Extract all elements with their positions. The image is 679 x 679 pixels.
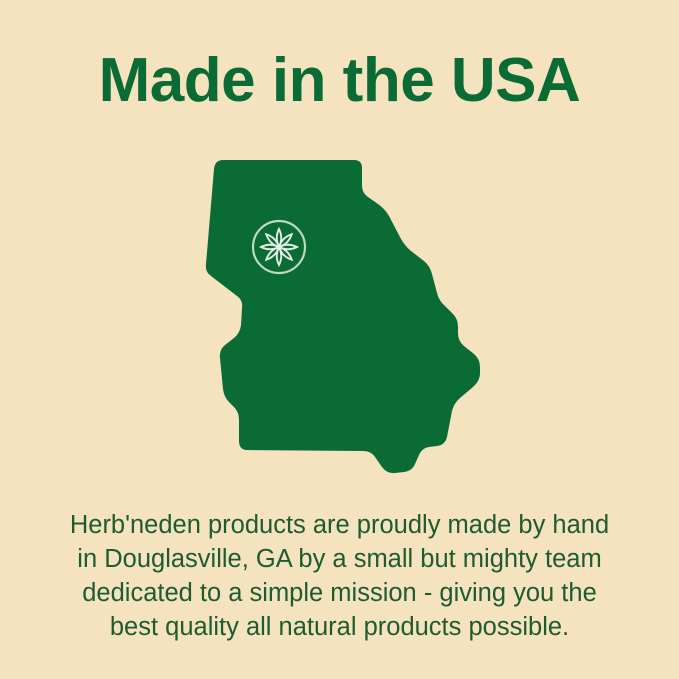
made-in-usa-card: Made in the USA <box>0 0 679 679</box>
georgia-map-svg <box>205 146 510 476</box>
page-title: Made in the USA <box>0 48 679 114</box>
body-line: in Douglasville, GA by a small but might… <box>58 542 621 576</box>
flower-star-emblem <box>253 221 305 273</box>
body-copy: Herb'neden products are proudly made by … <box>58 508 621 644</box>
georgia-map-graphic <box>205 146 510 476</box>
georgia-state-shape <box>206 160 480 473</box>
body-line: Herb'neden products are proudly made by … <box>58 508 621 542</box>
body-line: dedicated to a simple mission - giving y… <box>58 576 621 610</box>
body-line: best quality all natural products possib… <box>58 610 621 644</box>
